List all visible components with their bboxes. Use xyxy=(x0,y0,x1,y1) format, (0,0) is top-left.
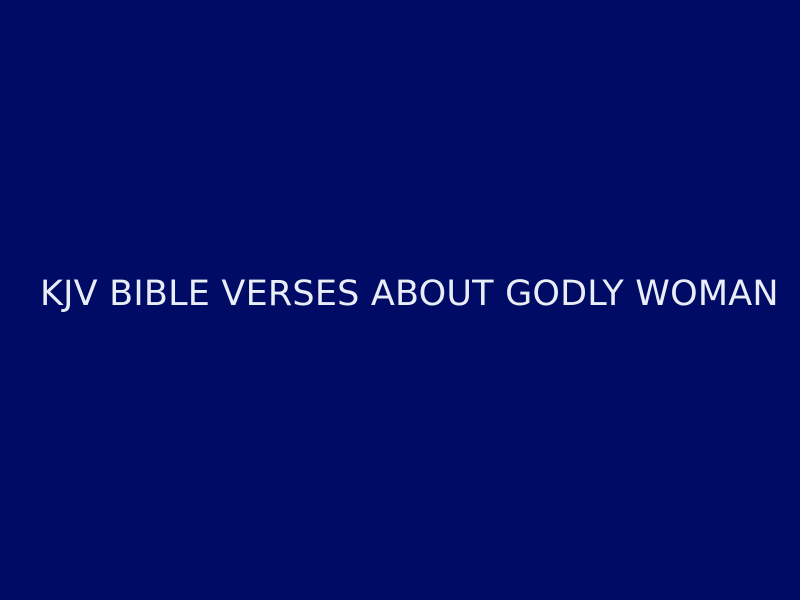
page-title: KJV BIBLE VERSES ABOUT GODLY WOMAN xyxy=(40,274,760,314)
title-card: KJV BIBLE VERSES ABOUT GODLY WOMAN xyxy=(0,0,800,600)
headline-container: KJV BIBLE VERSES ABOUT GODLY WOMAN xyxy=(0,280,800,320)
